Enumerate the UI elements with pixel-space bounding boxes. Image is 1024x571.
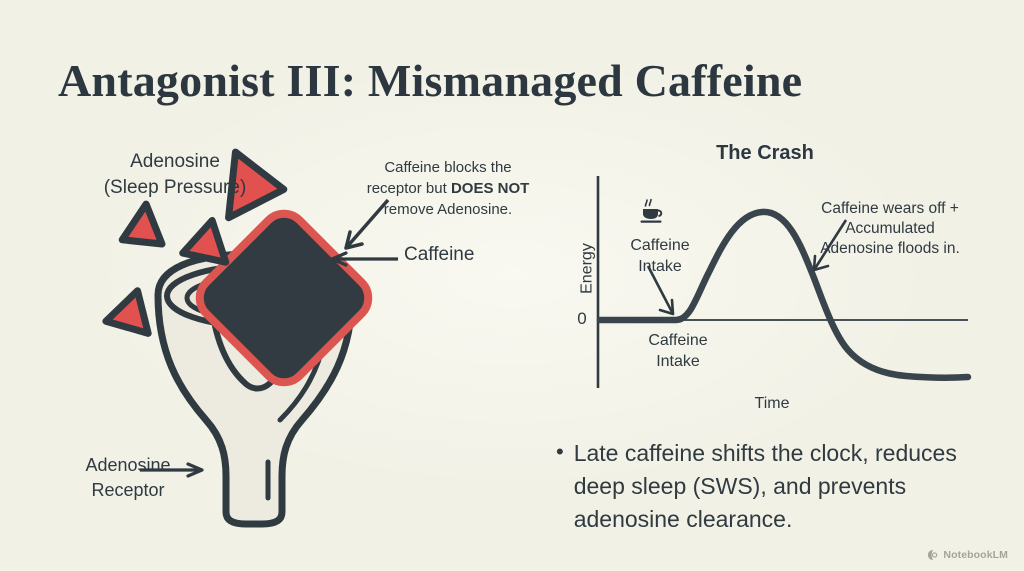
annotation-part-2: remove Adenosine. <box>384 201 512 218</box>
notebooklm-logo-icon <box>927 549 939 561</box>
caffeine-intake-label-top: Caffeine Intake <box>614 235 706 277</box>
adenosine-triangle-4 <box>106 285 159 334</box>
caffeine-intake-label-bottom: Caffeine Intake <box>630 330 726 372</box>
coffee-cup-icon <box>639 197 669 232</box>
caffeine-label: Caffeine <box>404 243 514 266</box>
caffeine-blocks-annotation: Caffeine blocks the receptor but DOES NO… <box>352 157 544 220</box>
bullet-marker-icon: • <box>556 437 564 467</box>
crash-note-label: Caffeine wears off + Accumulated Adenosi… <box>800 199 980 259</box>
summary-bullet-text: Late caffeine shifts the clock, reduces … <box>574 437 976 536</box>
adenosine-label: Adenosine (Sleep Pressure) <box>70 149 280 201</box>
adenosine-receptor-label: Adenosine Receptor <box>62 453 194 503</box>
annotation-emphasis: DOES NOT <box>451 180 529 197</box>
slide-canvas: Antagonist III: Mismanaged Caffeine <box>0 0 1024 571</box>
adenosine-triangle-3 <box>183 216 234 262</box>
watermark-text: NotebookLM <box>943 549 1008 561</box>
chart-xlabel: Time <box>722 393 822 414</box>
summary-bullet: • Late caffeine shifts the clock, reduce… <box>556 437 976 536</box>
caffeine-arrow-horizontal <box>332 253 398 265</box>
page-title: Antagonist III: Mismanaged Caffeine <box>58 54 802 107</box>
adenosine-triangle-2 <box>122 202 166 244</box>
chart-ytick-zero: 0 <box>572 308 592 329</box>
chart-ylabel: Energy <box>577 234 598 304</box>
notebooklm-watermark: NotebookLM <box>927 549 1008 561</box>
chart-title: The Crash <box>640 142 890 165</box>
